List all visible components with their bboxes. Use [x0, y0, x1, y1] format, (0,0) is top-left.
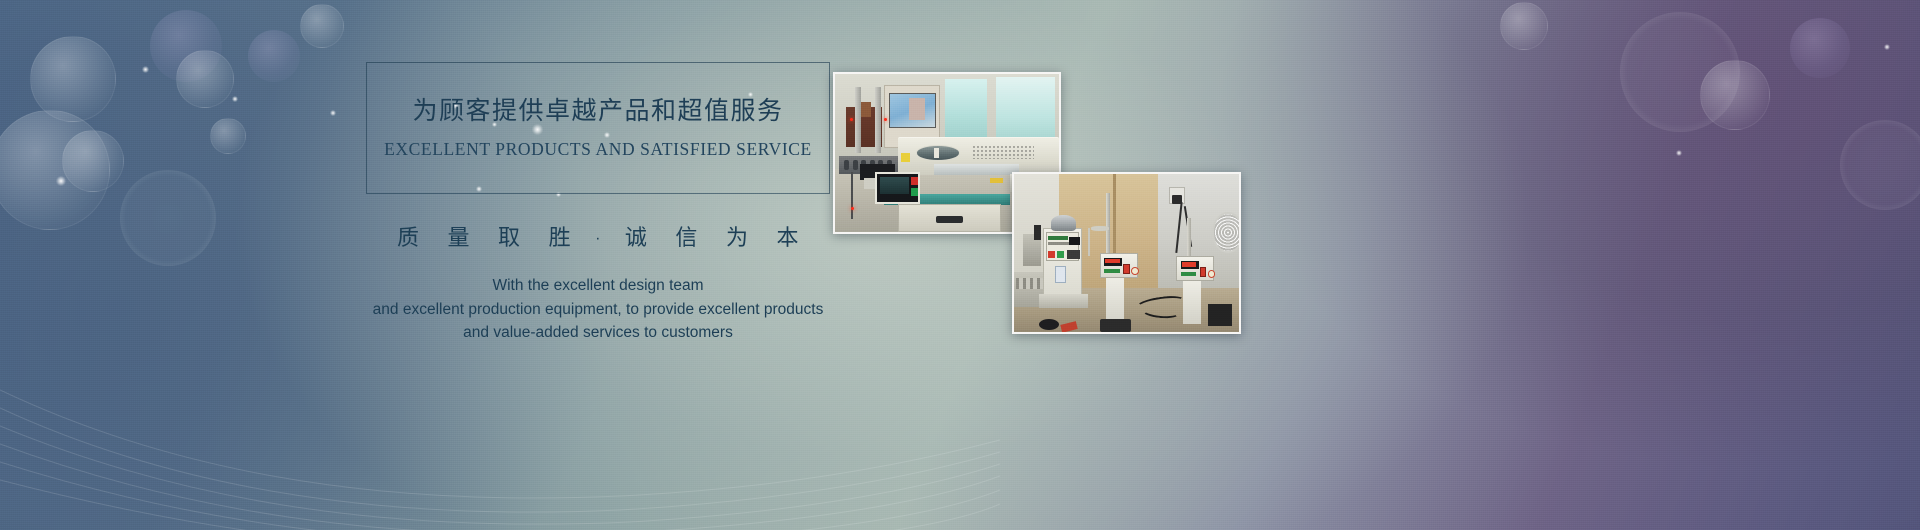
- slogan-char: 取: [498, 225, 521, 250]
- bokeh-circle: [248, 30, 300, 82]
- sparkle: [142, 66, 149, 73]
- slogan-char: 质: [397, 225, 420, 250]
- banner-copy: 为顾客提供卓越产品和超值服务 EXCELLENT PRODUCTS AND SA…: [338, 62, 858, 345]
- bokeh-circle: [62, 130, 124, 192]
- bokeh-ring: [1620, 12, 1740, 132]
- paragraph-line: and excellent production equipment, to p…: [318, 298, 878, 322]
- banner-paragraph: With the excellent design team and excel…: [318, 274, 878, 345]
- company-banner: 为顾客提供卓越产品和超值服务 EXCELLENT PRODUCTS AND SA…: [0, 0, 1920, 530]
- bokeh-circle: [1790, 18, 1850, 78]
- slogan-char: 诚: [625, 225, 648, 250]
- bokeh-ring: [120, 170, 216, 266]
- slogan-char: 本: [776, 225, 799, 250]
- bokeh-circle: [300, 4, 344, 48]
- slogan-separator: ·: [595, 230, 601, 247]
- sparkle: [56, 176, 66, 186]
- sparkle: [1676, 150, 1682, 156]
- bokeh-ring: [1840, 120, 1920, 210]
- slogan-char: 胜: [549, 225, 572, 250]
- paragraph-line: and value-added services to customers: [318, 321, 878, 345]
- headline-chinese: 为顾客提供卓越产品和超值服务: [412, 96, 783, 126]
- paragraph-line: With the excellent design team: [318, 274, 878, 298]
- sparkle: [1884, 44, 1890, 50]
- headline-frame: 为顾客提供卓越产品和超值服务 EXCELLENT PRODUCTS AND SA…: [366, 62, 830, 194]
- bokeh-circle: [30, 36, 116, 122]
- slogan-char: 信: [675, 225, 698, 250]
- bokeh-circle: [210, 118, 246, 154]
- bokeh-circle: [1500, 2, 1548, 50]
- slogan-line: 质量取胜·诚信为本: [338, 220, 858, 252]
- slogan-char: 为: [726, 225, 749, 250]
- headline-english: EXCELLENT PRODUCTS AND SATISFIED SERVICE: [384, 139, 812, 160]
- bokeh-circle: [150, 10, 222, 82]
- bokeh-circle: [176, 50, 234, 108]
- sparkle: [330, 110, 336, 116]
- sparkle: [232, 96, 238, 102]
- photo-riveting-press-machines: [1012, 172, 1241, 334]
- bokeh-circle: [0, 110, 110, 230]
- bokeh-circle: [1700, 60, 1770, 130]
- slogan-char: 量: [448, 225, 471, 250]
